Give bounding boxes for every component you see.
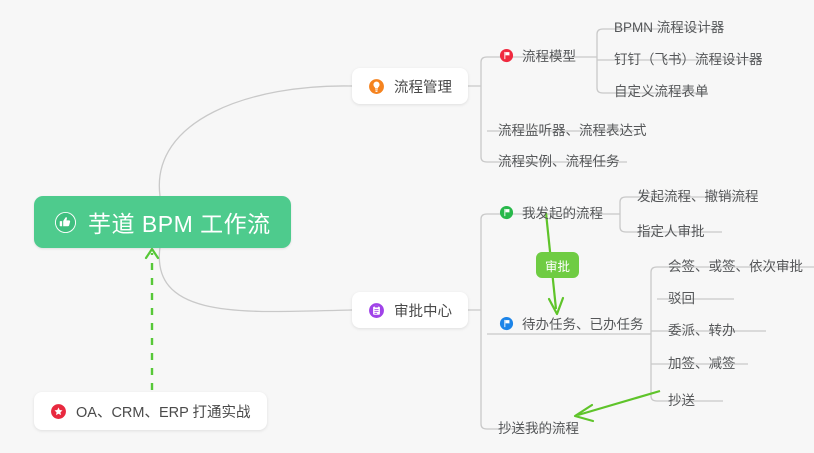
footnote-node[interactable]: OA、CRM、ERP 打通实战 [34,392,267,430]
node-label: 驳回 [668,287,695,307]
node-label: 会签、或签、依次审批 [668,255,803,275]
node-label: 指定人审批 [637,220,705,240]
star-circle-icon [50,403,67,420]
node-custom-process-form[interactable]: 自定义流程表单 [601,77,715,103]
wire-root-to-process-management [159,86,352,196]
mindmap-canvas: 芋道 BPM 工作流 OA、CRM、ERP 打通实战 流程管理 [0,0,814,453]
node-start-cancel[interactable]: 发起流程、撤销流程 [624,182,765,208]
node-delegate-transfer[interactable]: 委派、转办 [655,316,742,342]
node-bpmn-designer[interactable]: BPMN 流程设计器 [601,13,730,39]
dashed-green-connector [146,249,158,390]
flag-circle-icon [499,205,514,220]
root-node[interactable]: 芋道 BPM 工作流 [34,196,291,248]
lightbulb-circle-icon [368,78,385,95]
node-label: 流程监听器、流程表达式 [498,119,647,139]
node-label: 我发起的流程 [522,202,603,222]
thumbs-up-icon [54,211,77,234]
node-label: 抄送我的流程 [498,417,579,437]
node-countersign[interactable]: 会签、或签、依次审批 [655,252,809,278]
branch-process-management[interactable]: 流程管理 [352,68,468,104]
node-my-initiated[interactable]: 我发起的流程 [493,199,609,225]
clipboard-circle-icon [368,302,385,319]
node-listener-expression[interactable]: 流程监听器、流程表达式 [485,116,653,142]
node-label: 发起流程、撤销流程 [637,185,759,205]
node-dingtalk-feishu-designer[interactable]: 钉钉（飞书）流程设计器 [601,45,769,71]
node-instance-task[interactable]: 流程实例、流程任务 [485,147,626,173]
dashed-arrowhead-up [146,249,158,258]
node-label: 钉钉（飞书）流程设计器 [614,48,763,68]
tag-label: 审批 [545,256,570,275]
branch-label: 流程管理 [394,76,452,97]
node-label: 自定义流程表单 [614,80,709,100]
wire-pm-bracket-cap-top [481,57,487,62]
branch-approval-center[interactable]: 审批中心 [352,292,468,328]
wire-ac-cap-top [481,214,487,219]
annotation-tag-approval: 审批 [536,252,579,278]
flag-circle-icon [499,316,514,331]
arrow-cc-to-ccflow [575,391,660,421]
node-cc[interactable]: 抄送 [655,386,701,412]
node-label: 抄送 [668,389,695,409]
arrow-line-2 [578,391,660,415]
node-label: 加签、减签 [668,352,736,372]
branch-label: 审批中心 [394,300,452,321]
footnote-label: OA、CRM、ERP 打通实战 [76,401,251,422]
node-assignee-approve[interactable]: 指定人审批 [624,217,711,243]
wire-root-to-approval-center [159,247,352,312]
node-cc-to-me[interactable]: 抄送我的流程 [485,414,585,440]
node-label: 流程模型 [522,45,576,65]
node-todo-done[interactable]: 待办任务、已办任务 [493,310,650,336]
node-add-remove-sign[interactable]: 加签、减签 [655,349,742,375]
flag-circle-icon [499,48,514,63]
node-label: 待办任务、已办任务 [522,313,644,333]
node-label: 委派、转办 [668,319,736,339]
node-process-model[interactable]: 流程模型 [493,42,582,68]
root-label: 芋道 BPM 工作流 [88,205,271,239]
node-label: 流程实例、流程任务 [498,150,620,170]
node-label: BPMN 流程设计器 [614,16,724,36]
node-reject[interactable]: 驳回 [655,284,701,310]
